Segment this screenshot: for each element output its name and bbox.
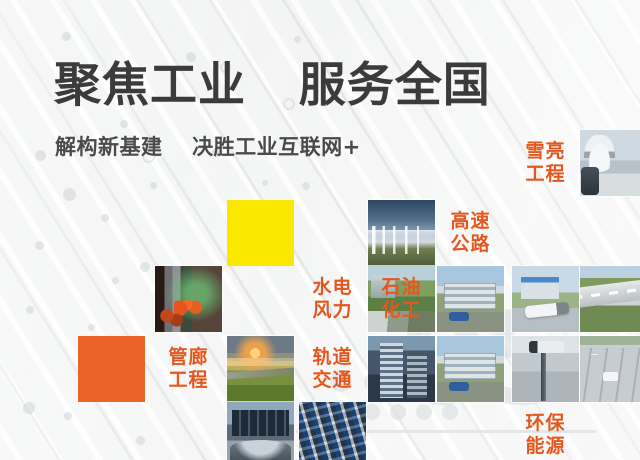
label-rail-transit[interactable]: 轨道交通 (299, 336, 366, 402)
photo-tower-image (368, 336, 435, 402)
decorative-dot (26, 306, 34, 314)
photo-campus-2 (437, 336, 504, 402)
photo-campus-image (437, 266, 504, 332)
decorative-dot (294, 36, 301, 43)
photo-wind-image (368, 200, 435, 266)
decorative-dot (88, 324, 95, 331)
decorative-dot (120, 120, 128, 128)
page-title: 聚焦工业 服务全国 (54, 58, 491, 113)
decorative-dot (101, 214, 109, 222)
photo-campus-2-image (437, 336, 504, 402)
photo-control (227, 402, 294, 460)
photo-workers-image (155, 266, 222, 332)
label-line-1: 高速 (450, 210, 490, 233)
label-line-2: 公路 (450, 233, 490, 256)
label-line-2: 工程 (168, 369, 208, 392)
label-petrochem[interactable]: 石油化工 (368, 266, 435, 332)
decorative-dot (23, 402, 35, 414)
decorative-dot (63, 188, 76, 201)
photo-motorway (580, 336, 640, 402)
page-subtitle: 解构新基建 决胜工业互联网+ (55, 131, 361, 161)
photo-campus (437, 266, 504, 332)
photo-highway (580, 266, 640, 332)
decorative-dot (35, 150, 46, 161)
label-line-1: 水电 (312, 276, 352, 299)
subhead-part-2: 决胜工业互联网+ (192, 135, 361, 159)
label-expressway[interactable]: 高速公路 (437, 200, 504, 266)
photo-bullet (512, 266, 579, 332)
decorative-dot (302, 182, 310, 190)
label-bright-eyes[interactable]: 雪亮工程 (512, 130, 579, 196)
label-green-energy[interactable]: 环保能源 (512, 402, 579, 460)
photo-pole-image (512, 336, 579, 402)
label-line-2: 风力 (312, 299, 352, 322)
decorative-dot (64, 412, 72, 420)
photo-pole (512, 336, 579, 402)
swatch-yellow (227, 200, 294, 266)
decorative-dot (140, 262, 150, 272)
decorative-dot (136, 436, 145, 445)
label-line-1: 雪亮 (525, 140, 565, 163)
swatch-orange (78, 336, 145, 402)
photo-sunset (227, 336, 294, 402)
photo-wind (368, 200, 435, 266)
photo-motorway-image (580, 336, 640, 402)
subhead-part-1: 解构新基建 (55, 135, 163, 159)
label-line-1: 环保 (525, 412, 565, 435)
label-line-2: 交通 (312, 369, 352, 392)
label-line-1: 石油 (381, 276, 421, 299)
label-line-1: 管廊 (168, 346, 208, 369)
label-pipe-gallery[interactable]: 管廊工程 (155, 336, 222, 402)
decorative-dot (62, 32, 71, 41)
decorative-dot (112, 277, 119, 284)
photo-ptz-image (580, 130, 640, 196)
photo-datacenter-image (299, 402, 366, 460)
label-line-2: 化工 (381, 299, 421, 322)
label-line-2: 能源 (525, 435, 565, 458)
photo-workers (155, 266, 222, 332)
label-line-2: 工程 (525, 163, 565, 186)
label-line-1: 轨道 (312, 346, 352, 369)
headline-part-1: 聚焦工业 (54, 58, 246, 113)
decorative-dot (150, 182, 157, 189)
photo-bullet-image (512, 266, 579, 332)
photo-tower (368, 336, 435, 402)
decorative-dot (35, 241, 44, 250)
headline-part-2: 服务全国 (299, 58, 491, 113)
photo-highway-image (580, 266, 640, 332)
photo-sunset-image (227, 336, 294, 402)
banner: 05 聚焦工业 服务全国 解构新基建 决胜工业互联网+ 水电风力石油化工管廊工程… (0, 0, 640, 460)
photo-control-image (227, 402, 294, 460)
photo-ptz (580, 130, 640, 196)
decorative-dot (262, 180, 268, 186)
photo-datacenter (299, 402, 366, 460)
label-hydro-wind[interactable]: 水电风力 (299, 266, 366, 332)
